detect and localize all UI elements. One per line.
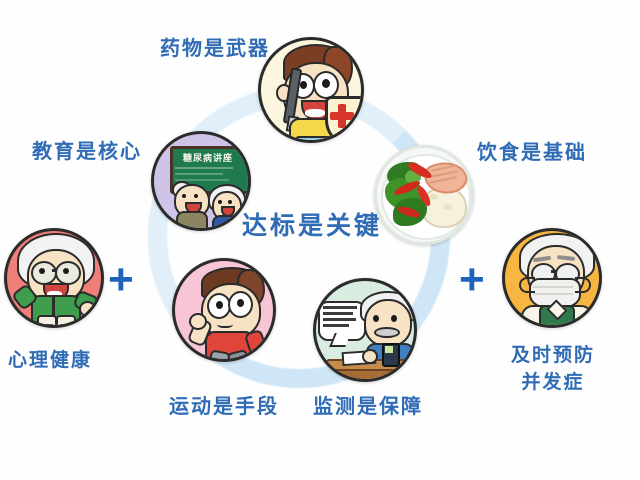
label-education: 教育是核心 xyxy=(32,141,142,165)
blackboard-text: 糖尿病讲座 xyxy=(174,151,242,163)
happy-elderly-woman-icon xyxy=(7,231,101,325)
elderly-man-with-mask-icon xyxy=(505,231,599,325)
elderly-man-with-glucose-meter-icon xyxy=(316,281,414,379)
running-man-icon xyxy=(175,261,273,359)
label-mental-health: 心理健康 xyxy=(8,350,92,372)
label-diet: 饮食是基础 xyxy=(477,142,587,166)
label-monitoring: 监测是保障 xyxy=(313,396,423,420)
node-circle-monitoring[interactable] xyxy=(313,278,417,382)
label-exercise: 运动是手段 xyxy=(169,396,279,420)
elderly-couple-at-blackboard-icon: 糖尿病讲座 xyxy=(154,134,248,228)
node-circle-medicine[interactable] xyxy=(258,37,364,143)
label-prevention-line2: 并发症 xyxy=(505,372,601,394)
node-circle-exercise[interactable] xyxy=(172,258,276,362)
node-circle-mental-health[interactable] xyxy=(4,228,104,328)
label-medicine: 药物是武器 xyxy=(160,38,270,62)
node-circle-prevention[interactable] xyxy=(502,228,602,328)
node-circle-diet[interactable] xyxy=(374,145,474,245)
plus-operator-right: + xyxy=(459,258,485,302)
center-label: 达标是关键 xyxy=(242,212,382,242)
boy-with-insulin-pen-and-shield-icon xyxy=(261,40,361,140)
plus-operator-left: + xyxy=(108,258,134,302)
infographic-canvas: 达标是关键 xyxy=(0,0,640,480)
node-circle-education[interactable]: 糖尿病讲座 xyxy=(151,131,251,231)
plate-of-vegetables-fish-and-rice-icon xyxy=(377,148,471,242)
label-prevention-line1: 及时预防 xyxy=(505,345,601,367)
